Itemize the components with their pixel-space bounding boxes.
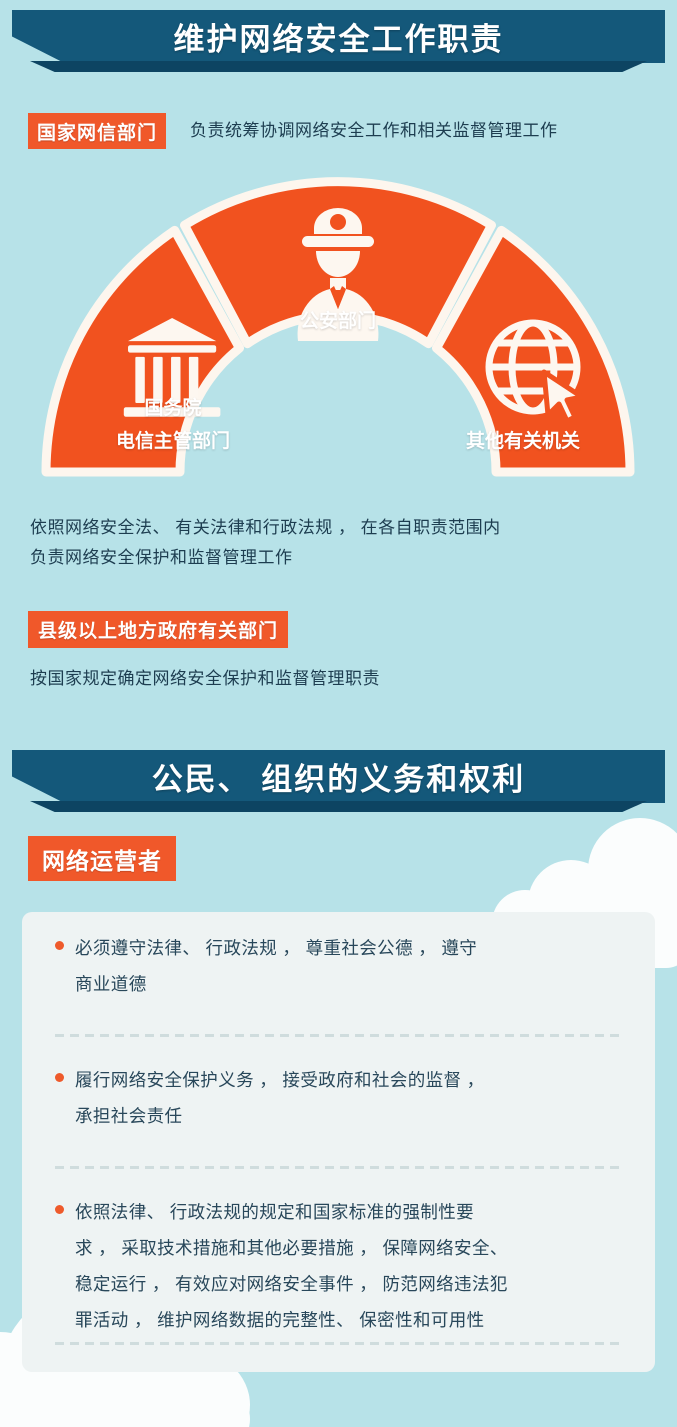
duty-item-3-line-3: 稳定运行 ， 有效应对网络安全事件 ， 防范网络违法犯 — [75, 1266, 622, 1302]
duty-item-3-line-4: 罪活动 ， 维护网络数据的完整性、 保密性和可用性 — [75, 1302, 622, 1338]
fan-caption-line2: 负责网络安全保护和监督管理工作 — [30, 543, 660, 573]
bullet-dot-icon — [55, 1205, 64, 1214]
duty-item-1: 必须遵守法律、 行政法规 ， 尊重社会公德 ， 遵守 商业道德 — [55, 930, 622, 1002]
tag-local-government-depts: 县级以上地方政府有关部门 — [28, 611, 288, 648]
duty-item-3-line-2: 求 ， 采取技术措施和其他必要措施 ， 保障网络安全、 — [75, 1230, 622, 1266]
duty-item-2-line-2: 承担社会责任 — [75, 1098, 622, 1134]
section-one-banner-title: 维护网络安全工作职责 — [12, 10, 665, 63]
duty-item-3: 依照法律、 行政法规的规定和国家标准的强制性要 求 ， 采取技术措施和其他必要措… — [55, 1194, 622, 1338]
bullet-dot-icon — [55, 1073, 64, 1082]
tag-description-national-cyberspace: 负责统筹协调网络安全工作和相关监督管理工作 — [190, 118, 660, 144]
fan-label-other-agencies: 其他有关机关 — [423, 426, 623, 453]
fan-label-state-council-line1: 国务院 — [93, 393, 253, 420]
duty-separator-2 — [55, 1166, 622, 1169]
bullet-dot-icon — [55, 941, 64, 950]
duty-item-3-line-1: 依照法律、 行政法规的规定和国家标准的强制性要 — [75, 1194, 622, 1230]
duty-separator-3 — [55, 1342, 622, 1345]
duty-item-2: 履行网络安全保护义务 ， 接受政府和社会的监督 ， 承担社会责任 — [55, 1062, 622, 1134]
fan-label-state-council-line2: 电信主管部门 — [63, 426, 283, 453]
duty-separator-1 — [55, 1034, 622, 1037]
network-operator-duties-panel: 必须遵守法律、 行政法规 ， 尊重社会公德 ， 遵守 商业道德 履行网络安全保护… — [22, 912, 655, 1372]
fan-label-public-security: 公安部门 — [243, 306, 433, 333]
tag-national-cyberspace-dept: 国家网信部门 — [28, 113, 166, 149]
tag-network-operator: 网络运营者 — [28, 836, 176, 881]
duty-item-1-line-2: 商业道德 — [75, 966, 622, 1002]
tag-description-local-government: 按国家规定确定网络安全保护和监督管理职责 — [30, 664, 660, 694]
duty-item-1-line-1: 必须遵守法律、 行政法规 ， 尊重社会公德 ， 遵守 — [75, 930, 622, 966]
section-one-banner: 维护网络安全工作职责 — [12, 10, 665, 72]
fan-caption-line1: 依照网络安全法、 有关法律和行政法规 ， 在各自职责范围内 — [30, 513, 660, 543]
section-two-banner-title: 公民、 组织的义务和权利 — [12, 750, 665, 803]
infographic-page: 维护网络安全工作职责 国家网信部门 负责统筹协调网络安全工作和相关监督管理工作 — [0, 0, 677, 1427]
duty-item-2-line-1: 履行网络安全保护义务 ， 接受政府和社会的监督 ， — [75, 1062, 622, 1098]
section-two-banner: 公民、 组织的义务和权利 — [12, 750, 665, 812]
responsibility-fan-chart: 国务院 电信主管部门 公安部门 其他有关机关 — [38, 168, 638, 480]
